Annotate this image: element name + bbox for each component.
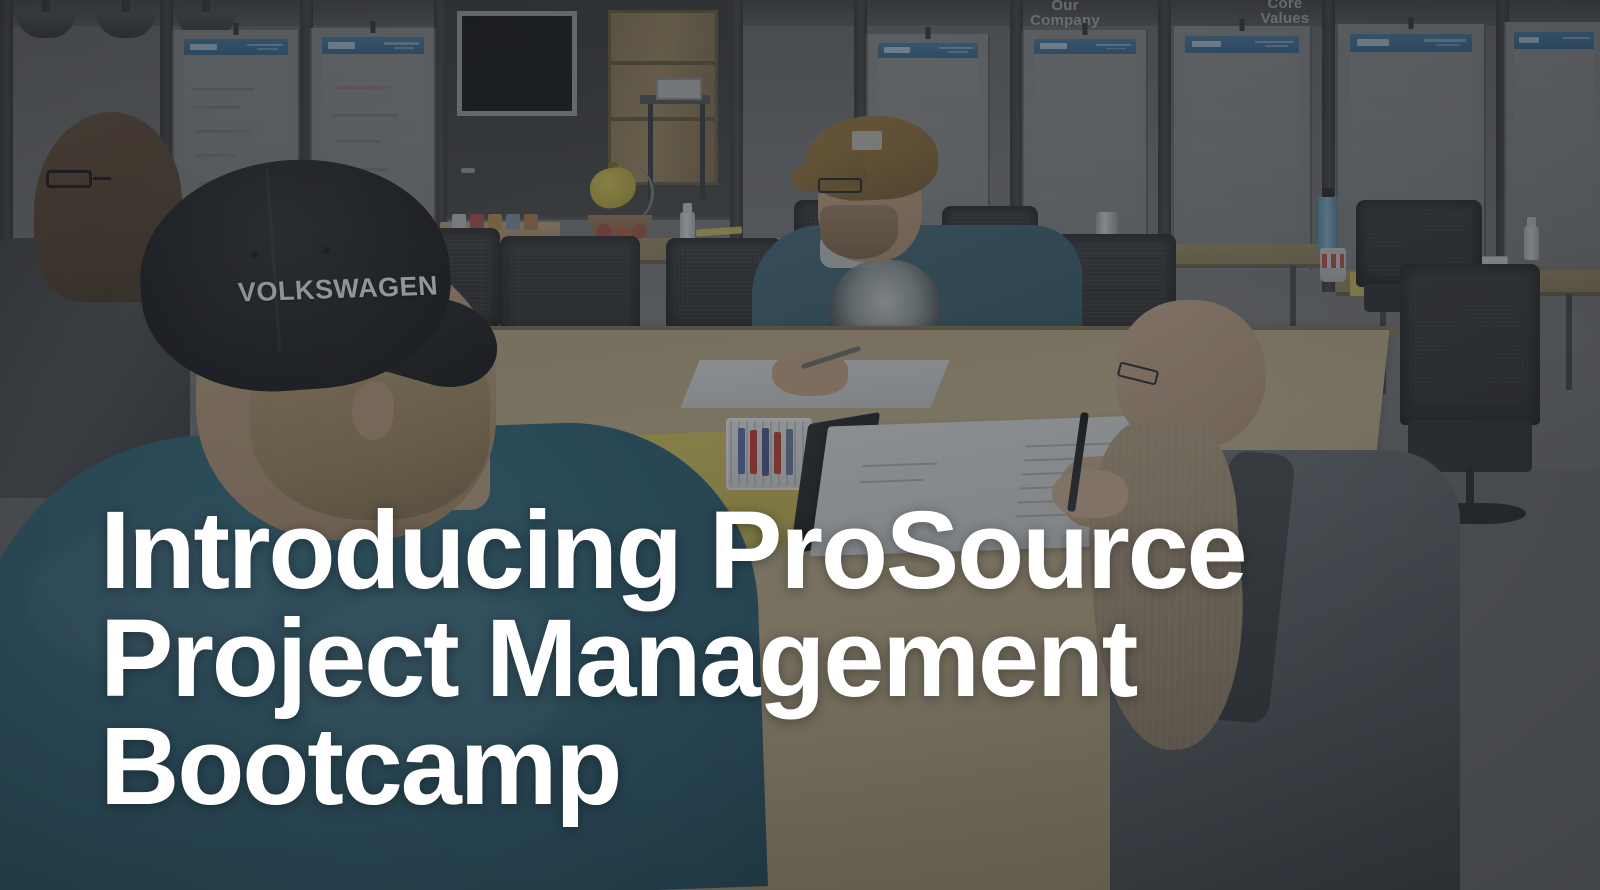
hero-banner: Our Company ABC LLC Core Values ABC LLC [0,0,1600,890]
page-title: Introducing ProSource Project Management… [100,497,1500,821]
